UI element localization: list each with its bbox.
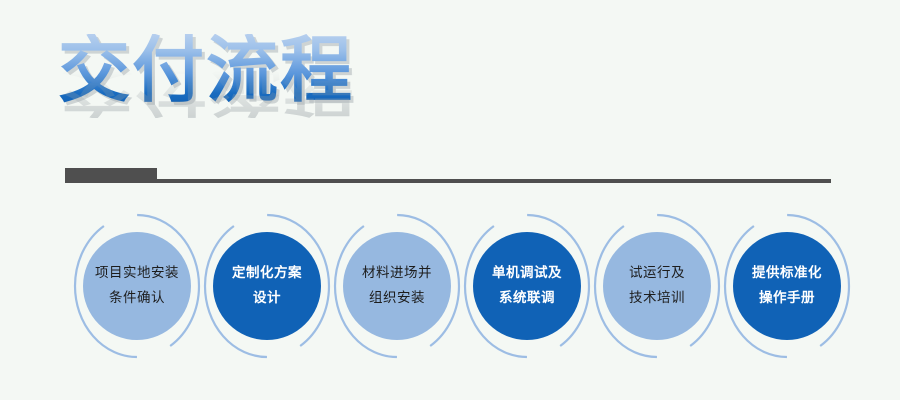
delivery-process-flow: 项目实地安装条件确认定制化方案设计材料进场并组织安装单机调试及系统联调试运行及技… [0,196,900,386]
page-title: 交付流程 [58,34,354,106]
title-block: 交付流程 交付流程 [58,34,478,154]
step-circle-4[interactable] [473,232,581,340]
step-circle-1[interactable] [83,232,191,340]
step-circle-6[interactable] [733,232,841,340]
circle-group [83,232,841,340]
slide-canvas: 交付流程 交付流程 项目实地安装条件确认定制化方案设计材料进场并组织安装单机调试… [0,0,900,400]
divider-rule [65,179,831,183]
ring-group [75,215,849,357]
flow-graphics [0,196,900,386]
step-circle-2[interactable] [213,232,321,340]
title-divider [65,168,831,184]
step-circle-3[interactable] [343,232,451,340]
step-circle-5[interactable] [603,232,711,340]
